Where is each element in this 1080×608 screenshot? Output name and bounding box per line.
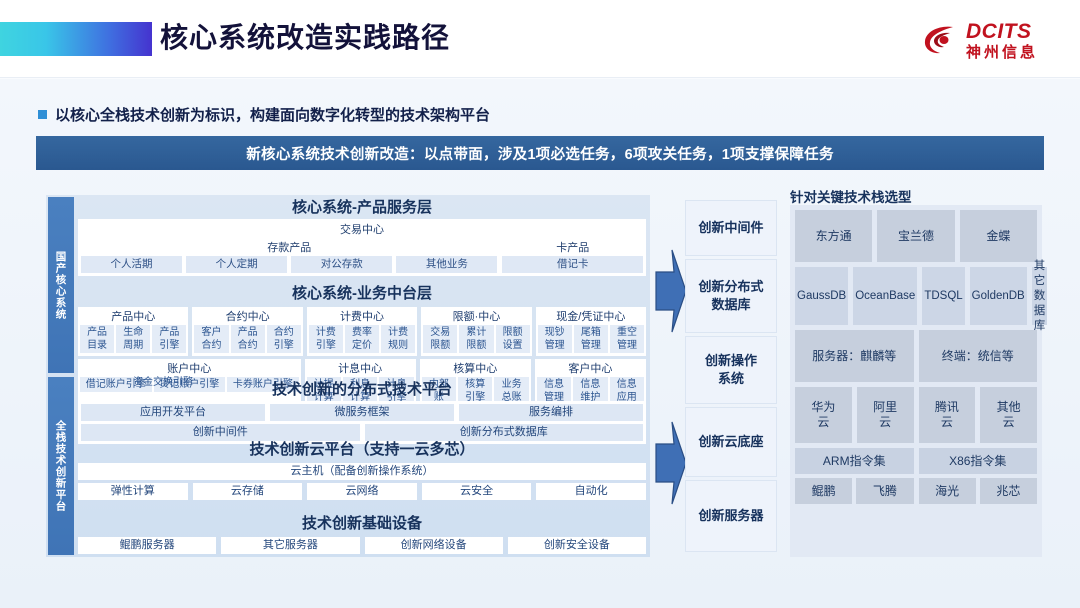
vertical-label-stack-platform: 全栈技术创新平台 (48, 377, 74, 555)
product-group-card-items: 借记卡 (502, 256, 643, 273)
header-accent-bar (0, 22, 152, 56)
db-oceanbase[interactable]: OceanBase (853, 267, 917, 325)
center-account-title: 账户中心 (80, 361, 299, 377)
chip-kunpeng[interactable]: 鲲鹏 (795, 478, 852, 504)
cell-product-engine: 产品引擎 (152, 325, 186, 353)
highlight-banner-text: 新核心系统技术创新改造：以点带面，涉及1项必选任务，6项攻关任务，1项支撑保障任… (246, 143, 834, 164)
db-gaussdb[interactable]: GaussDB (795, 267, 848, 325)
cell-trade-limit: 交易限额 (423, 325, 457, 353)
bar-innovative-security-device[interactable]: 创新安全设备 (508, 537, 646, 554)
center-product[interactable]: 产品中心 产品目录 生命周期 产品引擎 (78, 307, 188, 356)
trade-center-label: 交易中心 (81, 222, 643, 239)
bar-service-orchestration[interactable]: 服务编排 (459, 404, 643, 421)
task-card-cloud-base[interactable]: 创新云底座 (685, 407, 777, 477)
task-card-operating-system[interactable]: 创新操作系统 (685, 336, 777, 404)
dcits-swoosh-icon (920, 20, 960, 60)
cell-product-contract: 产品合约 (231, 325, 265, 353)
os-terminal-uos[interactable]: 终端：统信等 (919, 330, 1038, 382)
infrastructure-title: 技术创新基础设备 (78, 513, 646, 535)
chip-hygon[interactable]: 海光 (919, 478, 976, 504)
chip-zhaoxin[interactable]: 兆芯 (980, 478, 1037, 504)
product-group-card-title: 卡产品 (502, 241, 643, 256)
bar-other-server[interactable]: 其它服务器 (221, 537, 359, 554)
bar-cloud-security[interactable]: 云安全 (422, 483, 532, 500)
task-card-column: 创新中间件 创新分布式数据库 创新操作系统 创新云底座 创新服务器 (685, 200, 777, 557)
db-tdsql[interactable]: TDSQL (922, 267, 964, 325)
os-server-kylin[interactable]: 服务器：麒麟等 (795, 330, 914, 382)
cell-important-blank-mgmt: 重空管理 (610, 325, 644, 353)
tech-stack-panel: 东方通 宝兰德 金蝶 GaussDB OceanBase TDSQL Golde… (790, 205, 1042, 557)
slide-canvas: 核心系统改造实践路径 DCITS 神州信息 以核心全栈技术创新为标识，构建面向数… (0, 0, 1080, 608)
cell-accumulated-limit: 累计限额 (459, 325, 493, 353)
cell-teller-box-mgmt: 尾箱管理 (574, 325, 608, 353)
highlight-banner: 新核心系统技术创新改造：以点带面，涉及1项必选任务，6项攻关任务，1项支撑保障任… (36, 136, 1044, 170)
chip-phytium[interactable]: 飞腾 (856, 478, 913, 504)
cloud-tencent[interactable]: 腾讯云 (919, 387, 976, 443)
stack-row-cloud: 华为云 阿里云 腾讯云 其他云 (795, 387, 1037, 443)
chip-personal-current[interactable]: 个人活期 (81, 256, 182, 273)
vertical-label-core-system: 国产核心系统 (48, 197, 74, 373)
center-interest-title: 计息中心 (307, 361, 414, 377)
chip-group-arm: ARM指令集 鲲鹏 飞腾 (795, 448, 914, 508)
chip-personal-fixed[interactable]: 个人定期 (186, 256, 287, 273)
bar-elastic-compute[interactable]: 弹性计算 (78, 483, 188, 500)
product-service-layer: 核心系统-产品服务层 交易中心 存款产品 个人活期 个人定期 对公存款 其他业务 (78, 197, 646, 276)
vendor-tongtech[interactable]: 东方通 (795, 210, 872, 262)
cell-lifecycle: 生命周期 (116, 325, 150, 353)
chip-corporate-deposit[interactable]: 对公存款 (291, 256, 392, 273)
tech-platform-body: 应用开发平台 微服务框架 服务编排 创新中间件 创新分布式数据库 (78, 401, 646, 444)
distributed-tech-platform: 技术创新的分布式技术平台 应用开发平台 微服务框架 服务编排 创新中间件 创新分… (78, 379, 646, 444)
bar-innovative-network-device[interactable]: 创新网络设备 (365, 537, 503, 554)
cloud-platform-section: 技术创新云平台（支持一云多芯） 云主机（配备创新操作系统） 弹性计算 云存储 云… (78, 439, 646, 500)
center-contract-title: 合约中心 (194, 309, 300, 325)
product-group-deposit: 存款产品 个人活期 个人定期 对公存款 其他业务 (81, 241, 497, 273)
logo-english-name: DCITS (966, 21, 1038, 42)
logo-text: DCITS 神州信息 (966, 21, 1038, 60)
chip-group-arm-title: ARM指令集 (795, 448, 914, 474)
product-layer-title: 核心系统-产品服务层 (78, 197, 646, 219)
center-product-title: 产品中心 (80, 309, 186, 325)
product-group-card: 卡产品 借记卡 (502, 241, 643, 273)
bar-cloud-storage[interactable]: 云存储 (193, 483, 303, 500)
product-group-deposit-items: 个人活期 个人定期 对公存款 其他业务 (81, 256, 497, 273)
logo-chinese-name: 神州信息 (966, 45, 1038, 60)
infrastructure-section: 技术创新基础设备 鲲鹏服务器 其它服务器 创新网络设备 创新安全设备 (78, 513, 646, 554)
center-contract[interactable]: 合约中心 客户合约 产品合约 合约引擎 (192, 307, 302, 356)
biz-layer-title: 核心系统-业务中台层 (78, 283, 646, 305)
section-bullet-text: 以核心全栈技术创新为标识，构建面向数字化转型的技术架构平台 (55, 104, 490, 125)
stack-row-middleware: 东方通 宝兰德 金蝶 (795, 210, 1037, 262)
task-card-server[interactable]: 创新服务器 (685, 480, 777, 552)
chip-group-x86: X86指令集 海光 兆芯 (919, 448, 1038, 508)
section-bullet: 以核心全栈技术创新为标识，构建面向数字化转型的技术架构平台 (38, 104, 490, 125)
cell-cash-mgmt: 现钞管理 (538, 325, 572, 353)
chip-debit-card[interactable]: 借记卡 (502, 256, 643, 273)
bar-cloud-network[interactable]: 云网络 (307, 483, 417, 500)
vendor-kingdee[interactable]: 金蝶 (960, 210, 1037, 262)
bar-cloud-host[interactable]: 云主机（配备创新操作系统） (78, 463, 646, 480)
dcits-logo: DCITS 神州信息 (920, 18, 1038, 62)
architecture-panel: 国产核心系统 全栈技术创新平台 核心系统-产品服务层 交易中心 存款产品 个人活… (46, 195, 650, 557)
cell-limit-setting: 限额设置 (496, 325, 530, 353)
flow-arrow-upper-icon (654, 248, 688, 334)
product-layer-body: 交易中心 存款产品 个人活期 个人定期 对公存款 其他业务 卡产品 (78, 219, 646, 276)
cell-product-catalog: 产品目录 (80, 325, 114, 353)
vendor-bes[interactable]: 宝兰德 (877, 210, 954, 262)
stack-row-chip: ARM指令集 鲲鹏 飞腾 X86指令集 海光 兆芯 (795, 448, 1037, 508)
cell-customer-contract: 客户合约 (194, 325, 228, 353)
center-cash-voucher[interactable]: 现金/凭证中心 现钞管理 尾箱管理 重空管理 (536, 307, 646, 356)
bullet-square-icon (38, 110, 47, 119)
cell-billing-rules: 计费规则 (381, 325, 415, 353)
bar-kunpeng-server[interactable]: 鲲鹏服务器 (78, 537, 216, 554)
cloud-huawei[interactable]: 华为云 (795, 387, 852, 443)
db-goldendb[interactable]: GoldenDB (970, 267, 1027, 325)
cloud-platform-title: 技术创新云平台（支持一云多芯） (78, 439, 646, 461)
center-cash-voucher-title: 现金/凭证中心 (538, 309, 644, 325)
page-title: 核心系统改造实践路径 (160, 18, 450, 58)
center-limit-title: 限额·中心 (423, 309, 529, 325)
task-card-middleware[interactable]: 创新中间件 (685, 200, 777, 256)
bar-app-dev-platform[interactable]: 应用开发平台 (81, 404, 265, 421)
cell-rate-pricing: 费率定价 (345, 325, 379, 353)
center-accounting-title: 核算中心 (422, 361, 529, 377)
center-billing-title: 计费中心 (309, 309, 415, 325)
stack-row-database: GaussDB OceanBase TDSQL GoldenDB 其它数据库 (795, 267, 1037, 325)
bar-microservice-framework[interactable]: 微服务框架 (270, 404, 454, 421)
task-card-distributed-database[interactable]: 创新分布式数据库 (685, 259, 777, 333)
center-limit[interactable]: 限额·中心 交易限额 累计限额 限额设置 (421, 307, 531, 356)
cell-billing-engine: 计费引擎 (309, 325, 343, 353)
product-groups-row: 存款产品 个人活期 个人定期 对公存款 其他业务 卡产品 借记卡 (81, 241, 643, 273)
product-group-deposit-title: 存款产品 (81, 241, 497, 256)
slide-header: 核心系统改造实践路径 DCITS 神州信息 (0, 0, 1080, 78)
center-customer-title: 客户中心 (537, 361, 644, 377)
bar-automation[interactable]: 自动化 (536, 483, 646, 500)
cell-contract-engine: 合约引擎 (267, 325, 301, 353)
stack-row-os: 服务器：麒麟等 终端：统信等 (795, 330, 1037, 382)
flow-arrow-lower-icon (654, 420, 688, 506)
chip-group-x86-title: X86指令集 (919, 448, 1038, 474)
cloud-other[interactable]: 其他云 (980, 387, 1037, 443)
chip-other-business[interactable]: 其他业务 (396, 256, 497, 273)
db-other[interactable]: 其它数据库 (1032, 267, 1048, 325)
tech-platform-title: 技术创新的分布式技术平台 (78, 379, 646, 401)
center-billing[interactable]: 计费中心 计费引擎 费率定价 计费规则 (307, 307, 417, 356)
tech-stack-selection-title: 针对关键技术栈选型 (790, 186, 912, 206)
cloud-alibaba[interactable]: 阿里云 (857, 387, 914, 443)
biz-row-1: 产品中心 产品目录 生命周期 产品引擎 合约中心 客户合约 产品合约 合约引擎 (78, 307, 646, 356)
